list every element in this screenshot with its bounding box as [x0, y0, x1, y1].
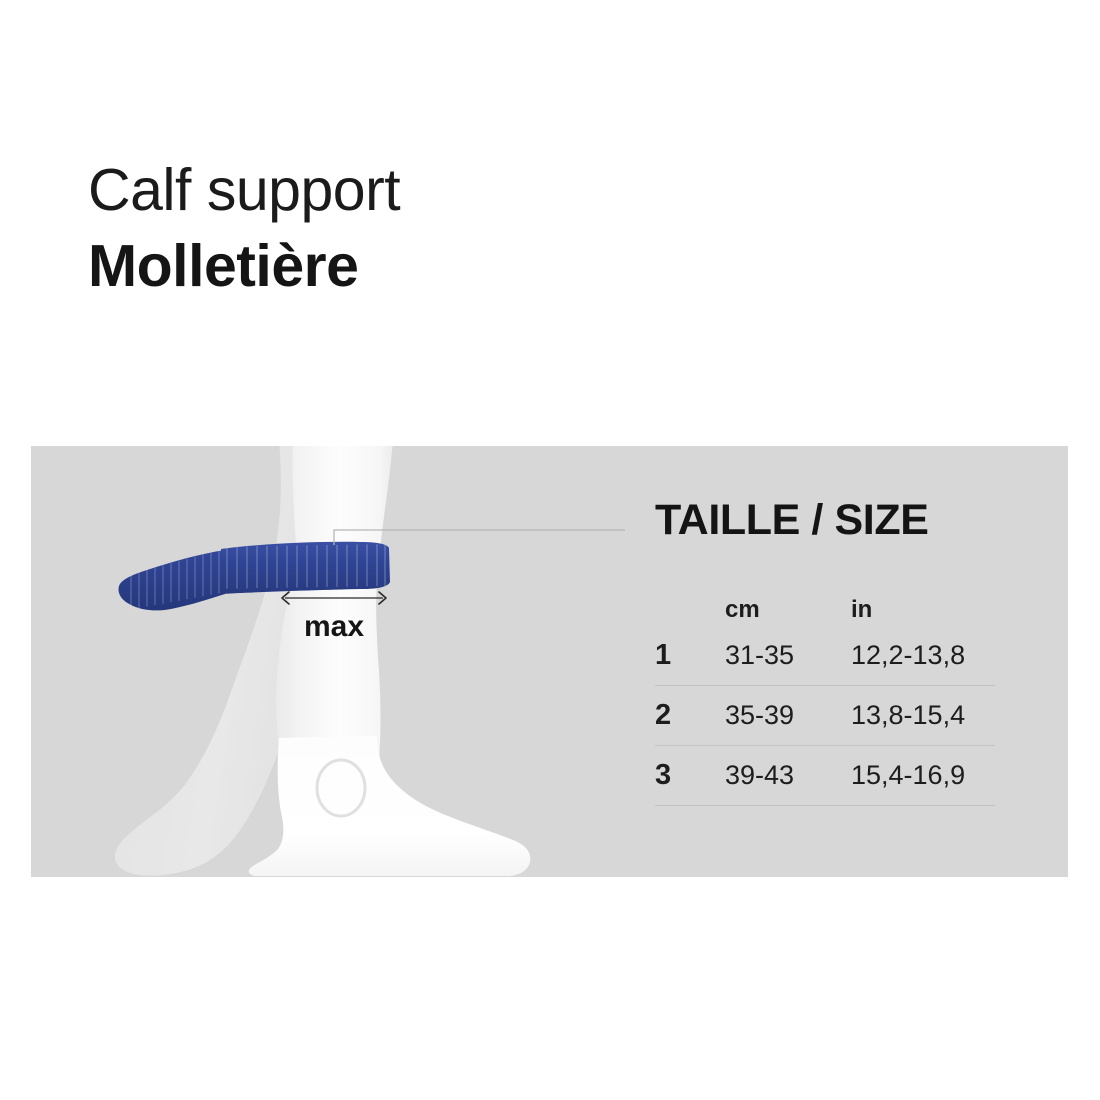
size-table: cm in 1 31-35 12,2-13,8 2 35-39 13,8-15,…	[655, 590, 995, 806]
max-measurement-label: max	[304, 610, 364, 643]
size-chart: TAILLE / SIZE cm in 1 31-35 12,2-13,8 2 …	[655, 496, 1045, 806]
size-value-in: 13,8-15,4	[851, 686, 995, 746]
page-title: Calf support Molletière	[88, 152, 888, 304]
column-header-in: in	[851, 590, 995, 626]
front-leg	[276, 446, 393, 760]
page-title-french: Molletière	[88, 228, 888, 304]
table-header-row: cm in	[655, 590, 995, 626]
foot	[249, 736, 531, 876]
calf-support-illustration: max	[31, 446, 651, 877]
table-row: 3 39-43 15,4-16,9	[655, 746, 995, 806]
size-value-cm: 31-35	[725, 626, 851, 686]
size-number: 2	[655, 686, 725, 746]
size-chart-heading: TAILLE / SIZE	[655, 496, 1045, 544]
size-value-cm: 39-43	[725, 746, 851, 806]
size-number: 1	[655, 626, 725, 686]
size-number: 3	[655, 746, 725, 806]
page-title-english: Calf support	[88, 152, 888, 228]
size-table-body: 1 31-35 12,2-13,8 2 35-39 13,8-15,4 3 39…	[655, 626, 995, 806]
column-header-cm: cm	[725, 590, 851, 626]
size-guide-panel: max TAILLE / SIZE cm in 1 31-35 12,2-13,…	[31, 446, 1068, 877]
column-header-size	[655, 590, 725, 626]
size-value-cm: 35-39	[725, 686, 851, 746]
table-row: 1 31-35 12,2-13,8	[655, 626, 995, 686]
size-value-in: 12,2-13,8	[851, 626, 995, 686]
size-value-in: 15,4-16,9	[851, 746, 995, 806]
size-table-header: cm in	[655, 590, 995, 626]
table-row: 2 35-39 13,8-15,4	[655, 686, 995, 746]
